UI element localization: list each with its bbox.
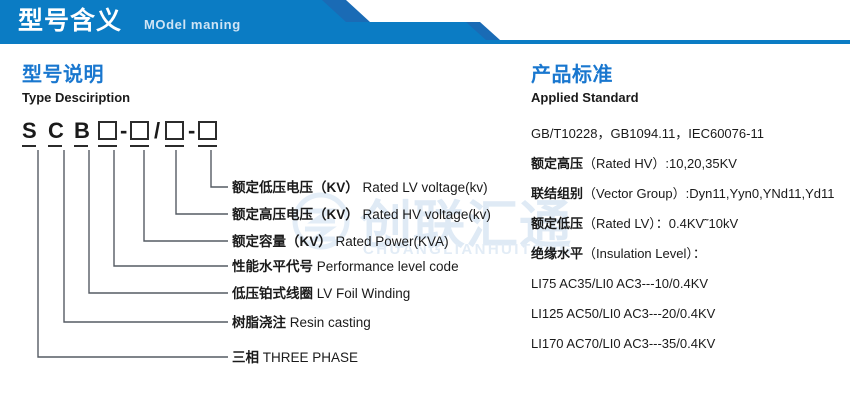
legend-label: 低压铂式线圈 LV Foil Winding [232, 286, 410, 302]
legend-label: 额定低压电压（KV） Rated LV voltage(kv) [232, 180, 488, 196]
legend-label-cn: 性能水平代号 [232, 259, 313, 274]
leader-line [89, 150, 228, 293]
legend-label-en: LV Foil Winding [313, 286, 410, 301]
standard-line: 额定低压（Rated LV）：0.4KV˜10kV [531, 216, 738, 232]
standard-line-cn: 联结组别 [531, 186, 583, 201]
legend-label-en: Performance level code [313, 259, 459, 274]
standard-line-cn: 额定低压 [531, 216, 583, 231]
leader-line [38, 150, 228, 357]
leader-lines [0, 0, 520, 400]
legend-label: 额定高压电压（KV） Rated HV voltage(kv) [232, 207, 491, 223]
standard-line: LI125 AC50/LI0 AC3---20/0.4KV [531, 306, 715, 322]
standard-line-value: （Insulation Level）： [583, 246, 706, 261]
standard-line-value: （Vector Group）:Dyn11,Yyn0,YNd11,Yd11 [583, 186, 834, 201]
legend-label-cn: 三相 [232, 350, 259, 365]
standard-line: GB/T10228，GB1094.11，IEC60076-11 [531, 126, 764, 142]
legend-label-cn: 额定低压电压（KV） [232, 180, 359, 195]
legend-label-en: THREE PHASE [259, 350, 358, 365]
standard-line-value: LI170 AC70/LI0 AC3---35/0.4KV [531, 336, 715, 351]
standard-line-value: （Rated HV）:10,20,35KV [583, 156, 737, 171]
leader-line [144, 150, 228, 241]
standard-line: 绝缘水平（Insulation Level）： [531, 246, 706, 262]
section-heading-applied-standard: 产品标准 Applied Standard [531, 63, 639, 107]
legend-label-cn: 额定高压电压（KV） [232, 207, 359, 222]
legend-label: 树脂浇注 Resin casting [232, 315, 371, 331]
legend-label-cn: 低压铂式线圈 [232, 286, 313, 301]
heading-right-en: Applied Standard [531, 89, 639, 107]
legend-label-en: Rated Power(KVA) [332, 234, 449, 249]
standard-line-value: LI125 AC50/LI0 AC3---20/0.4KV [531, 306, 715, 321]
standard-line: LI170 AC70/LI0 AC3---35/0.4KV [531, 336, 715, 352]
legend-label-en: Rated LV voltage(kv) [359, 180, 488, 195]
legend-label-en: Resin casting [286, 315, 371, 330]
standard-line-cn: 额定高压 [531, 156, 583, 171]
standard-line-value: （Rated LV）：0.4KV˜10kV [583, 216, 738, 231]
legend-label-cn: 树脂浇注 [232, 315, 286, 330]
leader-line [211, 150, 228, 187]
standard-line-cn: 绝缘水平 [531, 246, 583, 261]
legend-label: 三相 THREE PHASE [232, 350, 358, 366]
standard-line: 额定高压（Rated HV）:10,20,35KV [531, 156, 737, 172]
standard-line: LI75 AC35/LI0 AC3---10/0.4KV [531, 276, 708, 292]
standard-line-value: LI75 AC35/LI0 AC3---10/0.4KV [531, 276, 708, 291]
legend-label: 性能水平代号 Performance level code [232, 259, 459, 275]
standard-line-value: GB/T10228，GB1094.11，IEC60076-11 [531, 126, 764, 141]
legend-label-cn: 额定容量（KV） [232, 234, 332, 249]
legend-label: 额定容量（KV） Rated Power(KVA) [232, 234, 449, 250]
leader-line [176, 150, 228, 214]
legend-label-en: Rated HV voltage(kv) [359, 207, 491, 222]
heading-right-cn: 产品标准 [531, 63, 639, 87]
standard-line: 联结组别（Vector Group）:Dyn11,Yyn0,YNd11,Yd11 [531, 186, 835, 202]
